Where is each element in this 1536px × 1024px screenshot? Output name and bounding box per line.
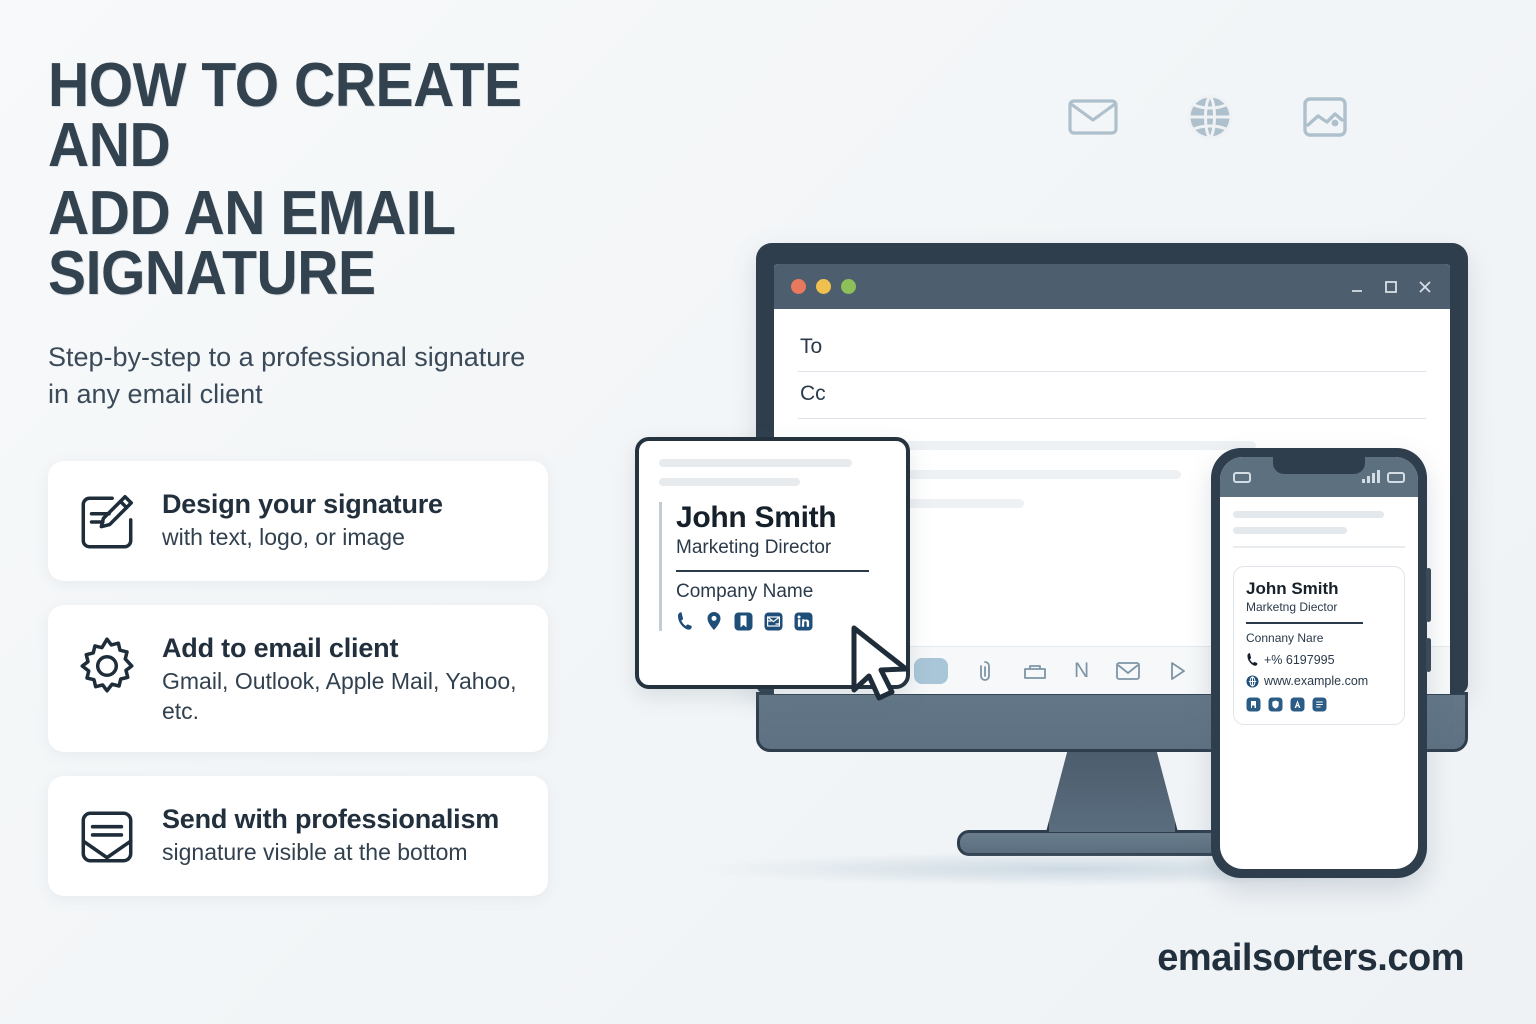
to-field-label: To (800, 335, 822, 358)
feature-card-design[interactable]: Design your signature with text, logo, o… (48, 461, 548, 581)
signature-divider (676, 570, 869, 572)
feature-card-add-client[interactable]: Add to email client Gmail, Outlook, Appl… (48, 605, 548, 752)
placeholder-line (1233, 511, 1384, 518)
pill-icon (1233, 472, 1251, 483)
phone-signature-phone: +% 6197995 (1264, 653, 1335, 667)
globe-badge-icon (1246, 675, 1259, 688)
phone-signature-website: www.example.com (1264, 674, 1368, 688)
social-icon-4[interactable] (1312, 697, 1327, 712)
signal-bars-icon (1362, 471, 1380, 483)
battery-icon (1387, 472, 1405, 483)
camera-icon[interactable] (1022, 660, 1048, 682)
linkedin-icon[interactable] (794, 612, 813, 631)
decorative-icon-row (1068, 93, 1348, 141)
phone-volume-button[interactable] (1426, 568, 1431, 622)
signature-name: John Smith (676, 502, 886, 534)
social-icon-2[interactable] (1268, 697, 1283, 712)
phone-signature-company: Connany Nare (1246, 631, 1392, 645)
location-pin-icon[interactable] (705, 611, 723, 631)
feature-card-subtitle: with text, logo, or image (162, 523, 443, 552)
signature-content: John Smith Marketing Director Company Na… (659, 502, 886, 631)
image-icon (1302, 95, 1348, 139)
phone-signature-divider (1246, 622, 1363, 624)
feature-card-text: Send with professionalism signature visi… (162, 802, 499, 868)
feature-card-title: Add to email client (162, 633, 524, 663)
send-arrow-icon[interactable] (1167, 660, 1187, 682)
zoom-dot[interactable] (841, 279, 856, 294)
signature-role: Marketing Director (676, 537, 886, 559)
send-button-pill[interactable] (914, 658, 948, 684)
feature-card-send[interactable]: Send with professionalism signature visi… (48, 776, 548, 896)
letter-n-icon[interactable]: N (1074, 660, 1089, 681)
monitor-stand-neck (1046, 752, 1178, 832)
contact-card-icon[interactable] (764, 612, 783, 631)
globe-icon (1186, 93, 1234, 141)
minimize-dot[interactable] (816, 279, 831, 294)
feature-card-text: Add to email client Gmail, Outlook, Appl… (162, 631, 524, 726)
page-subtitle: Step-by-step to a professional signature… (48, 339, 708, 414)
pencil-square-icon (74, 489, 140, 555)
status-right-group (1362, 471, 1405, 483)
phone-signature-website-row[interactable]: www.example.com (1246, 674, 1392, 688)
close-dot[interactable] (791, 279, 806, 294)
phone-signature-phone-row[interactable]: +% 6197995 (1246, 652, 1392, 667)
attachment-icon[interactable] (974, 659, 996, 683)
cc-field-label: Cc (800, 382, 826, 405)
feature-card-list: Design your signature with text, logo, o… (48, 461, 548, 896)
feature-card-title: Send with professionalism (162, 804, 499, 834)
left-column: HOW TO CREATE AND ADD AN EMAIL SIGNATURE… (48, 56, 708, 920)
skeleton-line (659, 459, 852, 467)
bookmark-icon[interactable] (734, 612, 753, 631)
feature-card-subtitle: signature visible at the bottom (162, 838, 499, 867)
cc-field[interactable]: Cc (798, 372, 1426, 419)
phone-notch (1273, 457, 1365, 474)
phone-status-bar (1220, 457, 1418, 497)
gear-icon (74, 633, 140, 699)
envelope-lines-icon (74, 804, 140, 870)
envelope-icon (1068, 97, 1118, 137)
feature-card-text: Design your signature with text, logo, o… (162, 487, 443, 553)
signature-company: Company Name (676, 581, 886, 603)
phone-signature-social-icons (1246, 697, 1392, 712)
phone-divider (1233, 546, 1405, 548)
headline-line-1: HOW TO CREATE AND (48, 51, 522, 180)
phone-power-button[interactable] (1426, 638, 1431, 672)
phone-signature-card[interactable]: John Smith Marketng Diector Connany Nare… (1233, 566, 1405, 726)
window-titlebar (774, 264, 1450, 309)
envelope-icon[interactable] (1115, 661, 1141, 681)
phone-icon (1246, 652, 1259, 667)
phone-screen: John Smith Marketng Diector Connany Nare… (1220, 457, 1418, 869)
page-title: HOW TO CREATE AND ADD AN EMAIL SIGNATURE (48, 56, 655, 305)
phone-mail-body: John Smith Marketng Diector Connany Nare… (1220, 497, 1418, 725)
window-controls (1348, 278, 1434, 296)
traffic-lights (791, 279, 856, 294)
social-icon-1[interactable] (1246, 697, 1261, 712)
phone-icon[interactable] (676, 611, 694, 631)
maximize-icon[interactable] (1382, 278, 1400, 296)
minimize-icon[interactable] (1348, 278, 1366, 296)
brand-footer: emailsorters.com (1157, 937, 1464, 980)
subtitle-line-1: Step-by-step to a professional signature (48, 342, 525, 372)
subtitle-line-2: in any email client (48, 379, 263, 409)
close-icon[interactable] (1416, 278, 1434, 296)
phone-signature-name: John Smith (1246, 580, 1392, 599)
social-icon-3[interactable] (1290, 697, 1305, 712)
feature-card-title: Design your signature (162, 489, 443, 519)
phone-signature-role: Marketng Diector (1246, 600, 1392, 614)
feature-card-subtitle: Gmail, Outlook, Apple Mail, Yahoo, etc. (162, 667, 524, 726)
mouse-pointer (848, 624, 916, 702)
to-field[interactable]: To (798, 325, 1426, 372)
headline-line-2: ADD AN EMAIL SIGNATURE (48, 184, 655, 304)
mobile-phone: John Smith Marketng Diector Connany Nare… (1211, 448, 1427, 878)
skeleton-line (659, 478, 800, 486)
placeholder-line (1233, 527, 1347, 534)
